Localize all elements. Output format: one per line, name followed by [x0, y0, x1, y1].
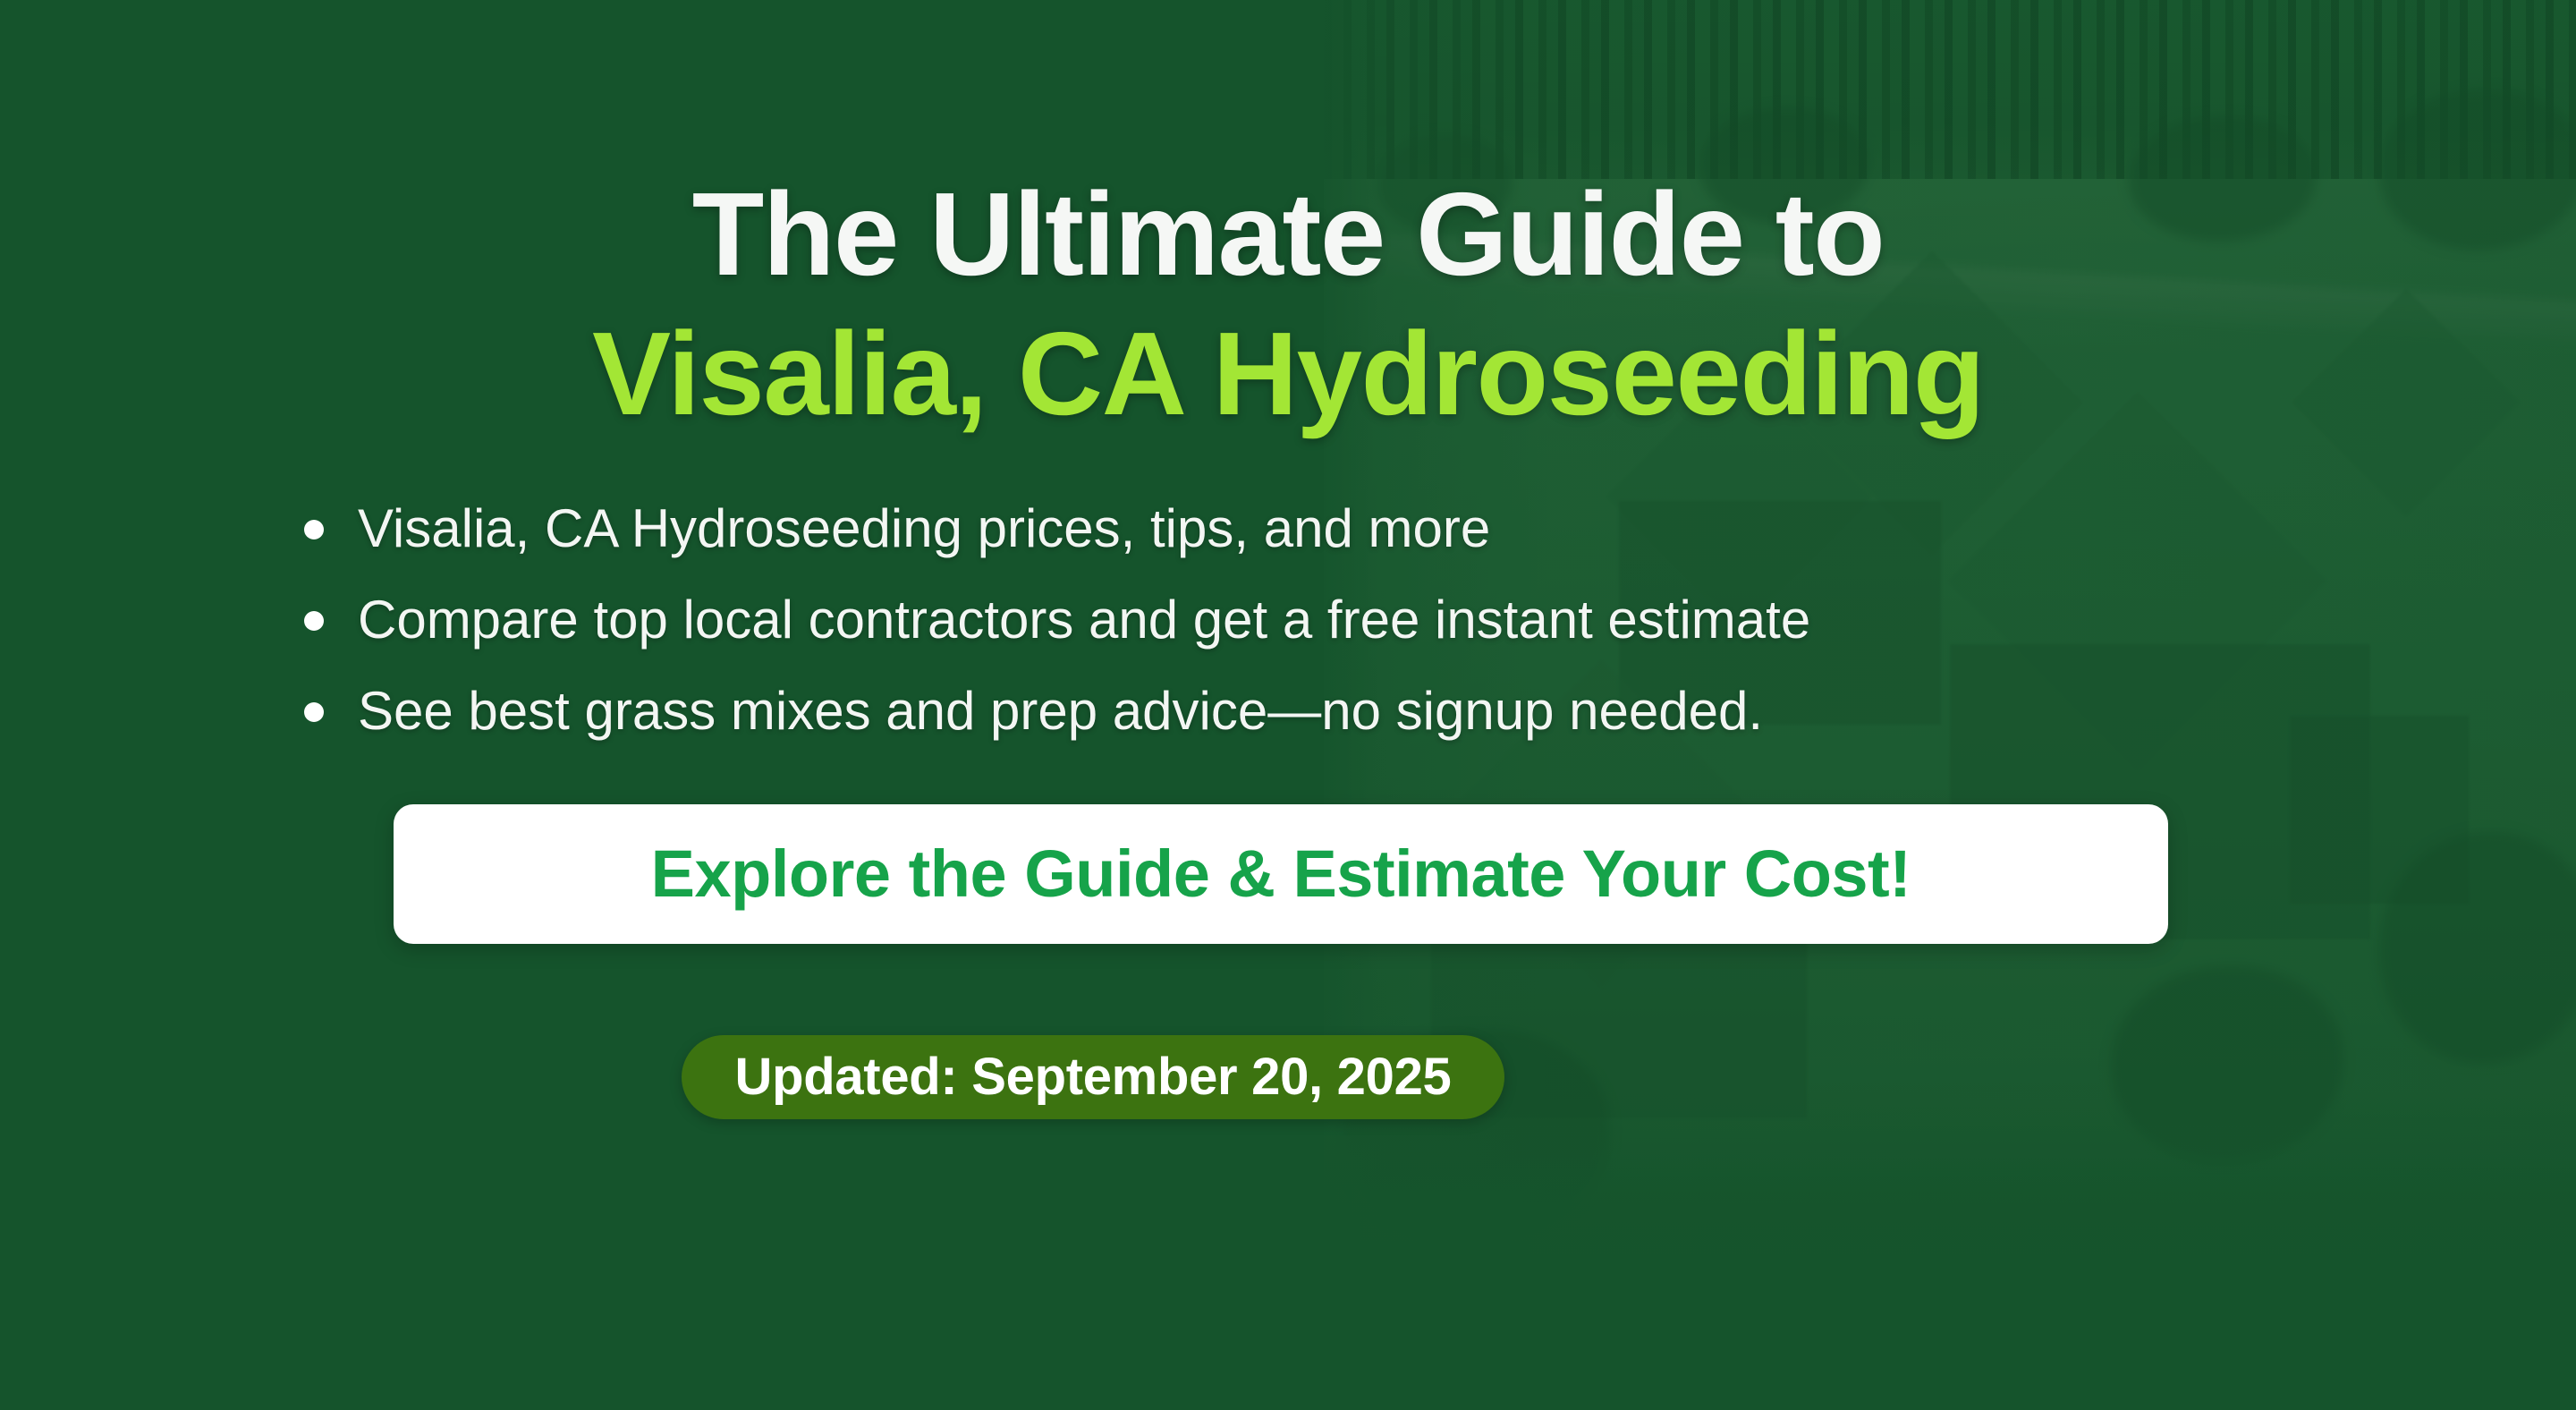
bullet-dot-icon	[304, 520, 324, 539]
list-item-label: Visalia, CA Hydroseeding prices, tips, a…	[358, 496, 1490, 561]
hero-banner: The Ultimate Guide to Visalia, CA Hydros…	[0, 0, 2576, 1410]
list-item: Visalia, CA Hydroseeding prices, tips, a…	[304, 496, 2576, 561]
bullet-dot-icon	[304, 611, 324, 631]
hero-content: The Ultimate Guide to Visalia, CA Hydros…	[0, 0, 2576, 1410]
explore-guide-button-label: Explore the Guide & Estimate Your Cost!	[651, 836, 1911, 912]
list-item-label: See best grass mixes and prep advice—no …	[358, 678, 1763, 743]
updated-status-badge-label: Updated: September 20, 2025	[735, 1047, 1452, 1107]
updated-status-badge: Updated: September 20, 2025	[682, 1035, 1505, 1119]
list-item-label: Compare top local contractors and get a …	[358, 587, 1810, 652]
badge-row: Updated: September 20, 2025	[0, 1035, 2576, 1119]
explore-guide-button[interactable]: Explore the Guide & Estimate Your Cost!	[394, 804, 2168, 944]
bullet-dot-icon	[304, 702, 324, 722]
page-title-line-1: The Ultimate Guide to	[0, 175, 2576, 293]
benefits-list: Visalia, CA Hydroseeding prices, tips, a…	[0, 496, 2576, 770]
list-item: Compare top local contractors and get a …	[304, 587, 2576, 652]
page-title-line-2: Visalia, CA Hydroseeding	[0, 315, 2576, 433]
cta-row: Explore the Guide & Estimate Your Cost!	[0, 804, 2576, 944]
list-item: See best grass mixes and prep advice—no …	[304, 678, 2576, 743]
